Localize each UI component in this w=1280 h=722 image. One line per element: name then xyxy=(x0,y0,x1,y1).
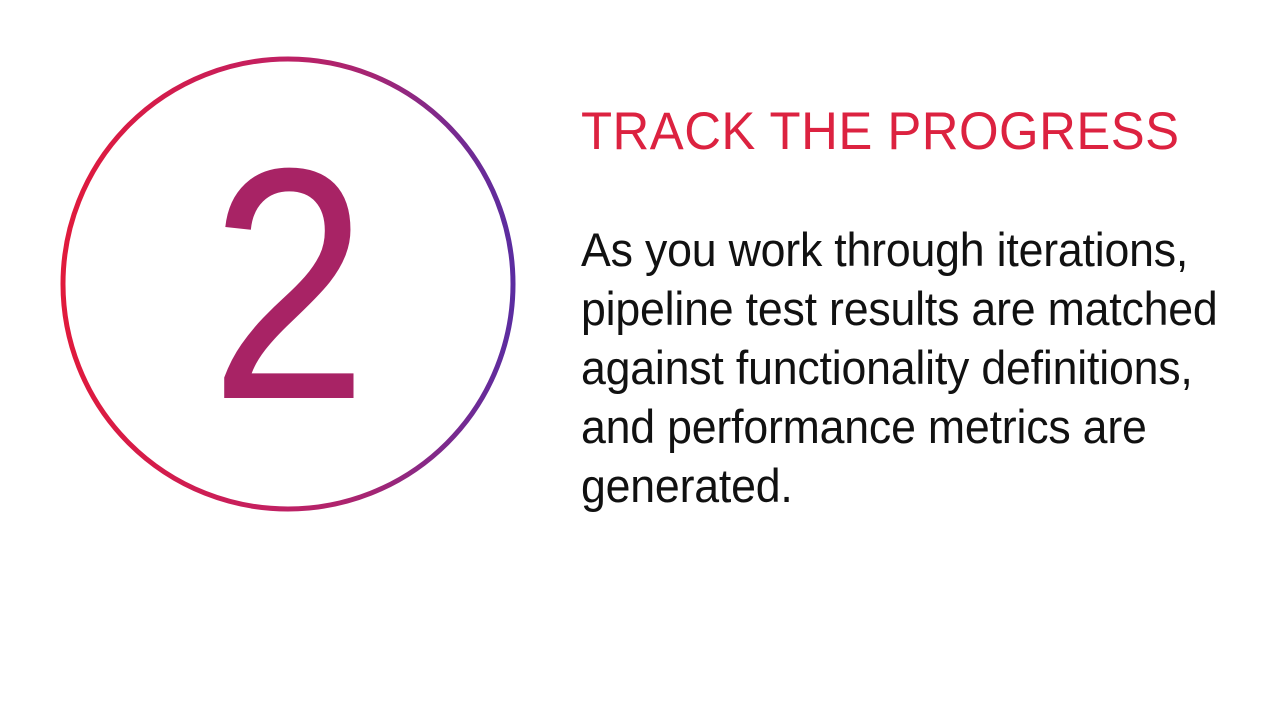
text-content: TRACK THE PROGRESS As you work through i… xyxy=(581,104,1241,515)
body-paragraph: As you work through iterations, pipeline… xyxy=(581,160,1237,515)
page-title: TRACK THE PROGRESS xyxy=(581,104,1215,160)
step-number-badge: 2 xyxy=(60,56,516,512)
step-number-label: 2 xyxy=(92,56,484,512)
slide-root: 2 TRACK THE PROGRESS As you work through… xyxy=(0,0,1280,722)
